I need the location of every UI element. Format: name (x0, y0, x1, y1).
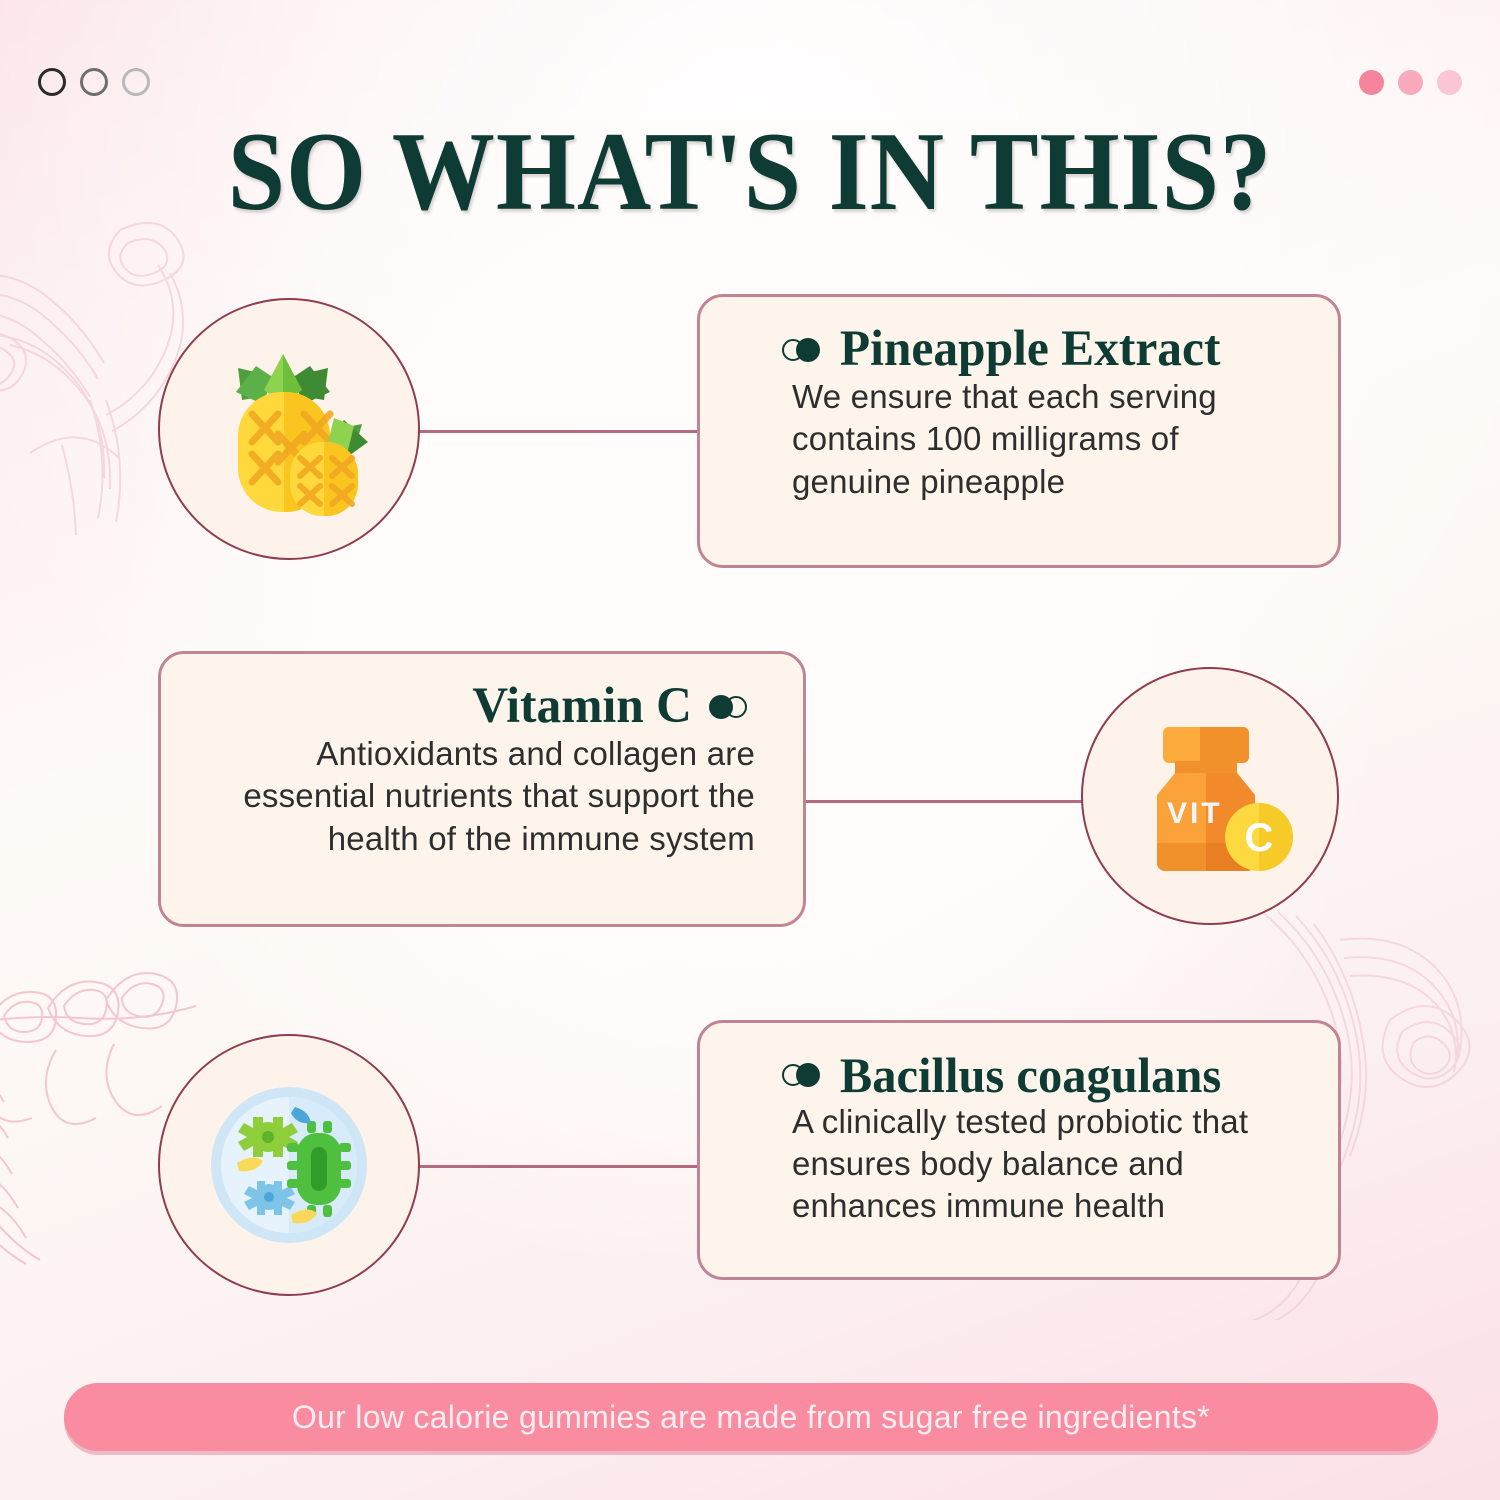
dot-outline-dark-icon (38, 68, 66, 96)
icon-circle-vitamin-c: VIT C (1081, 667, 1339, 925)
card-body-bacillus: A clinically tested probiotic that ensur… (734, 1101, 1304, 1228)
petri-dish-bacteria-icon (201, 1077, 377, 1253)
connector-line-bacillus (418, 1165, 708, 1168)
svg-text:C: C (1245, 816, 1274, 860)
bullet-pin-icon (782, 1063, 820, 1087)
svg-text:VIT: VIT (1167, 797, 1223, 830)
window-dots-left (38, 68, 150, 96)
info-card-bacillus-coagulans: Bacillus coagulans A clinically tested p… (697, 1020, 1341, 1280)
icon-circle-bacillus (158, 1034, 420, 1296)
page-title: SO WHAT'S IN THIS? (60, 108, 1440, 237)
info-card-vitamin-c: Vitamin C Antioxidants and collagen are … (158, 651, 806, 927)
footer-banner-text: Our low calorie gummies are made from su… (292, 1399, 1210, 1436)
card-title-text: Bacillus coagulans (840, 1049, 1221, 1101)
bullet-circle-outline-icon (725, 696, 747, 718)
dot-outline-light-icon (122, 68, 150, 96)
dot-filled-mid-icon (1398, 70, 1423, 95)
connector-line-vitamin-c (805, 800, 1083, 803)
card-body-pineapple: We ensure that each serving contains 100… (734, 376, 1304, 503)
card-body-vitamin-c: Antioxidants and collagen are essential … (195, 733, 769, 860)
vitamin-bottle-icon: VIT C (1117, 703, 1303, 889)
dot-filled-light-icon (1437, 70, 1462, 95)
infographic-canvas: SO WHAT'S IN THIS? (0, 0, 1500, 1500)
dot-filled-strong-icon (1359, 70, 1384, 95)
card-title-text: Vitamin C (472, 680, 691, 733)
card-heading-pineapple: Pineapple Extract (734, 323, 1304, 376)
card-heading-vitamin-c: Vitamin C (195, 680, 769, 733)
icon-circle-pineapple (158, 298, 420, 560)
dot-outline-mid-icon (80, 68, 108, 96)
card-heading-bacillus: Bacillus coagulans (734, 1049, 1304, 1101)
footer-banner: Our low calorie gummies are made from su… (64, 1383, 1438, 1451)
connector-line-pineapple (418, 430, 708, 433)
card-title-text: Pineapple Extract (840, 323, 1221, 376)
bullet-pin-icon (709, 695, 747, 719)
pineapple-icon (194, 334, 384, 524)
bullet-pin-icon (782, 338, 820, 362)
accent-dots-right (1359, 70, 1462, 95)
bullet-circle-filled-icon (796, 338, 820, 362)
bullet-circle-filled-icon (796, 1063, 820, 1087)
info-card-pineapple-extract: Pineapple Extract We ensure that each se… (697, 294, 1341, 568)
